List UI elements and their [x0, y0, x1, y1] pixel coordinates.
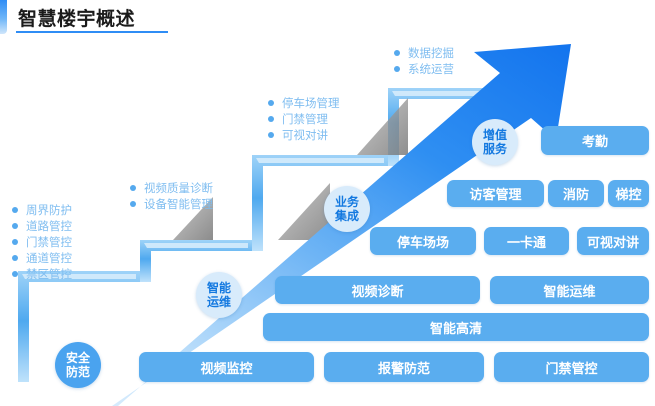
- page-title: 智慧楼宇概述: [18, 4, 135, 31]
- badge-line-2: 集成: [335, 209, 359, 223]
- bullet-dot-icon: [12, 223, 18, 229]
- bullet-dot-icon: [394, 66, 400, 72]
- pill-visitor-management[interactable]: 访客管理: [447, 180, 544, 207]
- badge-line-2: 防范: [66, 365, 90, 379]
- bullet-label: 停车场管理: [282, 95, 340, 111]
- bullet-dot-icon: [268, 132, 274, 138]
- bullet-label: 设备智能管理: [144, 196, 213, 212]
- badge-line-1: 业务: [335, 195, 359, 209]
- badge-integration[interactable]: 业务 集成: [324, 186, 370, 232]
- pill-smart-hd[interactable]: 智能高清: [263, 313, 649, 341]
- bullet-label: 数据挖掘: [408, 45, 454, 61]
- bullet-dot-icon: [12, 255, 18, 261]
- list-item: 门禁管理: [268, 111, 340, 127]
- bullet-label: 门禁管理: [282, 111, 328, 127]
- bullet-label: 可视对讲: [282, 127, 328, 143]
- list-item: 数据挖掘: [394, 45, 454, 61]
- badge-line-2: 服务: [483, 142, 507, 156]
- pill-alarm-prevention[interactable]: 报警防范: [324, 352, 484, 382]
- pill-video-intercom[interactable]: 可视对讲: [577, 227, 649, 255]
- badge-security[interactable]: 安全 防范: [55, 342, 101, 388]
- valueadd-bullets: 数据挖掘 系统运营: [394, 45, 454, 77]
- list-item: 可视对讲: [268, 127, 340, 143]
- list-item: 视频质量诊断: [130, 180, 213, 196]
- badge-valueadd[interactable]: 增值 服务: [472, 119, 518, 165]
- bullet-dot-icon: [268, 100, 274, 106]
- bullet-dot-icon: [394, 50, 400, 56]
- list-item: 道路管控: [12, 218, 72, 234]
- pill-one-card[interactable]: 一卡通: [484, 227, 569, 255]
- pill-parking-lot[interactable]: 停车场场: [370, 227, 476, 255]
- bullet-label: 禁区管控: [26, 266, 72, 282]
- badge-line-1: 安全: [66, 351, 90, 365]
- badge-line-1: 智能: [207, 281, 231, 295]
- bullet-dot-icon: [130, 185, 136, 191]
- list-item: 周界防护: [12, 202, 72, 218]
- pill-attendance[interactable]: 考勤: [541, 126, 649, 155]
- bullet-label: 道路管控: [26, 218, 72, 234]
- slide-canvas: 周界防护 道路管控 门禁管控 通道管控 禁区管控 视频质量诊断 设备智能管理: [0, 0, 655, 406]
- bullet-dot-icon: [268, 116, 274, 122]
- pill-fire-control[interactable]: 消防: [548, 180, 604, 207]
- badge-line-1: 增值: [483, 128, 507, 142]
- bullet-dot-icon: [12, 207, 18, 213]
- bullet-dot-icon: [12, 239, 18, 245]
- header-accent-bar: [0, 0, 7, 34]
- list-item: 停车场管理: [268, 95, 340, 111]
- pill-video-monitor[interactable]: 视频监控: [139, 352, 314, 382]
- list-item: 通道管控: [12, 250, 72, 266]
- badge-line-2: 运维: [207, 295, 231, 309]
- pill-elevator-control[interactable]: 梯控: [608, 180, 649, 207]
- bullet-dot-icon: [130, 201, 136, 207]
- integration-bullets: 停车场管理 门禁管理 可视对讲: [268, 95, 340, 143]
- bullet-label: 系统运营: [408, 61, 454, 77]
- bullet-label: 通道管控: [26, 250, 72, 266]
- pill-video-diagnosis[interactable]: 视频诊断: [275, 276, 480, 304]
- pill-access-control[interactable]: 门禁管控: [494, 352, 649, 382]
- bullet-label: 周界防护: [26, 202, 72, 218]
- list-item: 门禁管控: [12, 234, 72, 250]
- pill-smart-ops[interactable]: 智能运维: [490, 276, 649, 304]
- badge-ops[interactable]: 智能 运维: [196, 272, 242, 318]
- list-item: 系统运营: [394, 61, 454, 77]
- ops-bullets: 视频质量诊断 设备智能管理: [130, 180, 213, 212]
- list-item: 设备智能管理: [130, 196, 213, 212]
- security-bullets: 周界防护 道路管控 门禁管控 通道管控 禁区管控: [12, 202, 72, 282]
- bullet-dot-icon: [12, 271, 18, 277]
- bullet-label: 视频质量诊断: [144, 180, 213, 196]
- bullet-label: 门禁管控: [26, 234, 72, 250]
- list-item: 禁区管控: [12, 266, 72, 282]
- title-underline: [16, 31, 168, 33]
